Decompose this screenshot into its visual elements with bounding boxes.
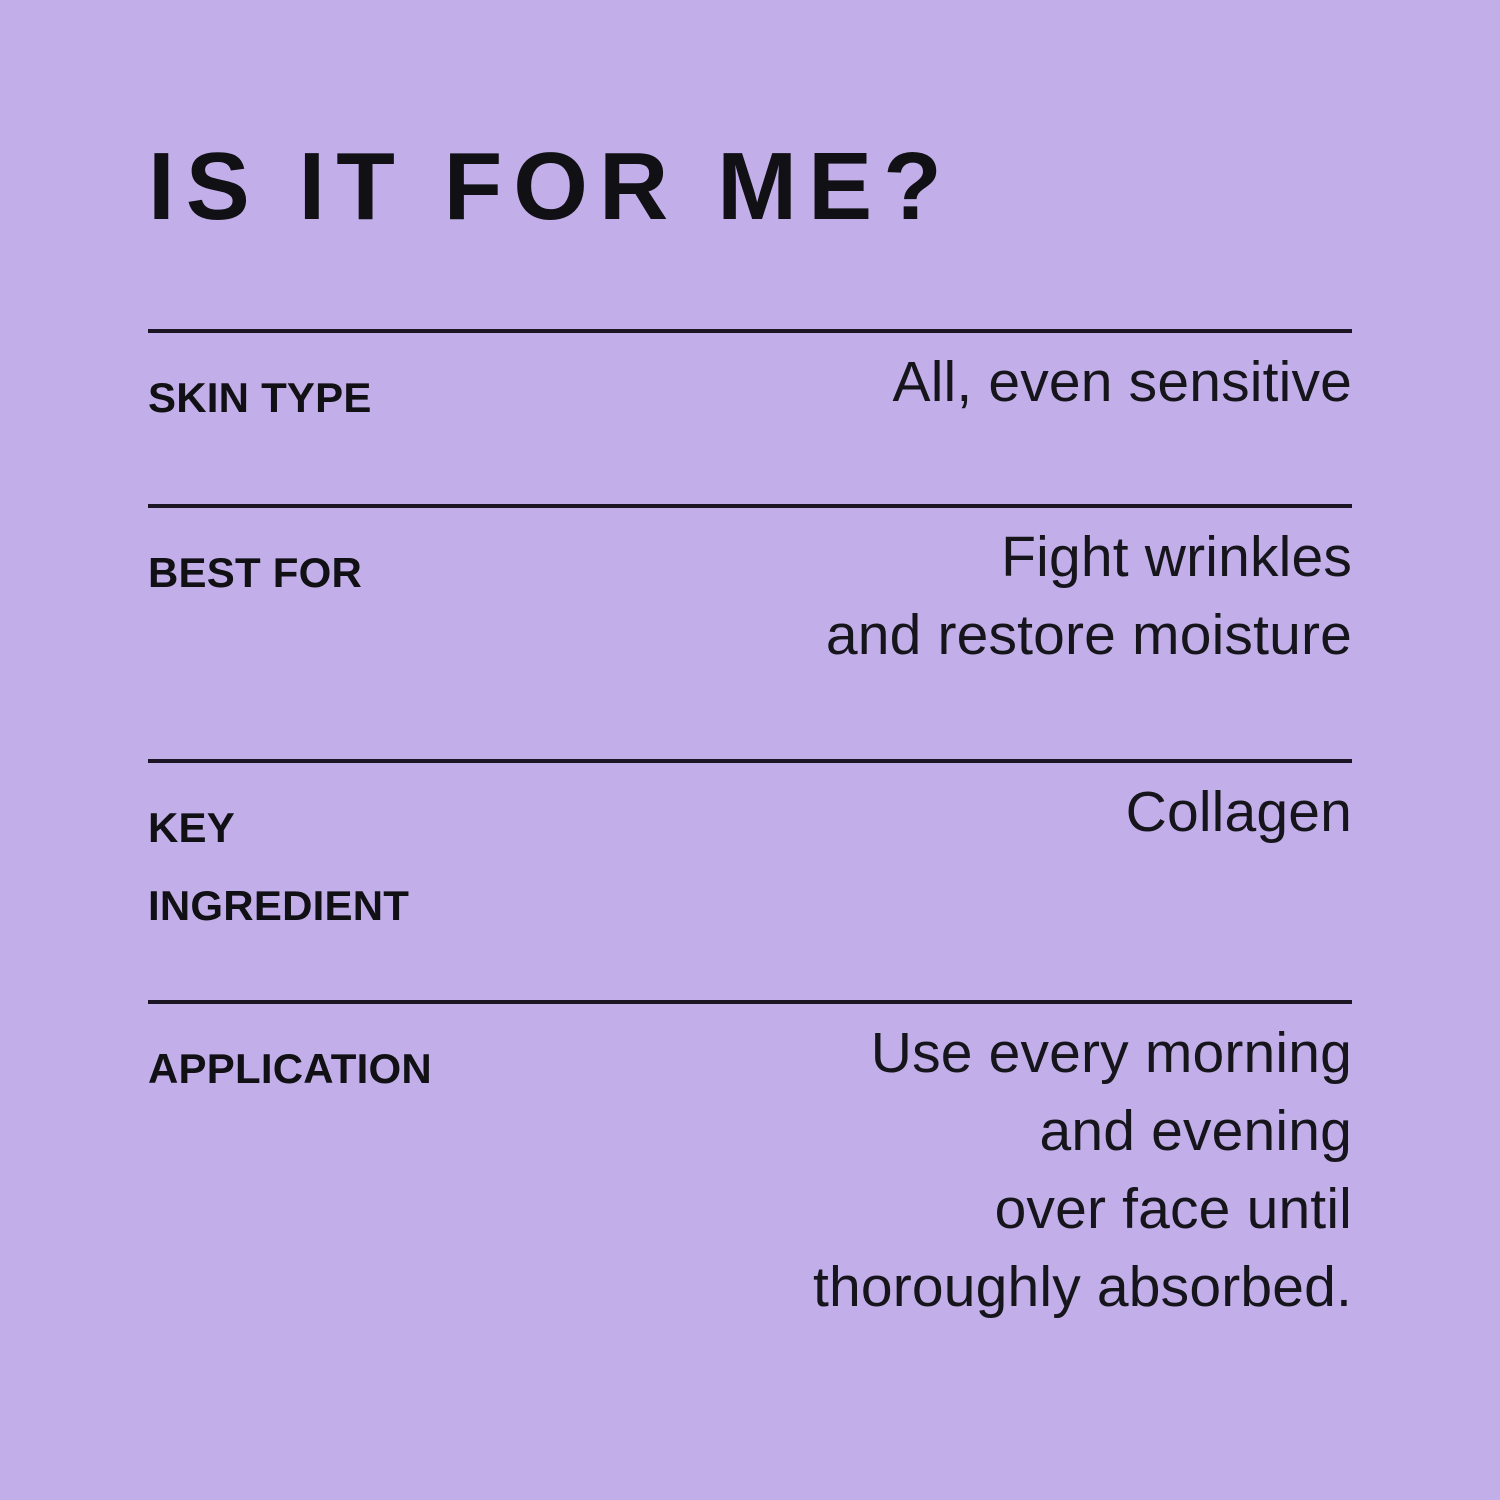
product-info-card: IS IT FOR ME? SKIN TYPE All, even sensit…	[0, 0, 1500, 1500]
spec-table: SKIN TYPE All, even sensitive BEST FOR F…	[148, 329, 1352, 1370]
table-row: BEST FOR Fight wrinkles and restore mois…	[148, 504, 1352, 759]
table-row: SKIN TYPE All, even sensitive	[148, 329, 1352, 504]
table-row: KEY INGREDIENT Collagen	[148, 759, 1352, 1000]
row-value-best-for: Fight wrinkles and restore moisture	[362, 508, 1352, 674]
row-label-key-ingredient: KEY INGREDIENT	[148, 763, 409, 945]
table-row: APPLICATION Use every morning and evenin…	[148, 1000, 1352, 1370]
page-title: IS IT FOR ME?	[148, 132, 1352, 242]
row-label-best-for: BEST FOR	[148, 508, 362, 612]
row-value-skin-type: All, even sensitive	[372, 333, 1352, 421]
row-label-skin-type: SKIN TYPE	[148, 333, 372, 437]
row-value-key-ingredient: Collagen	[409, 763, 1352, 851]
row-value-application: Use every morning and evening over face …	[432, 1004, 1352, 1326]
row-label-application: APPLICATION	[148, 1004, 432, 1108]
